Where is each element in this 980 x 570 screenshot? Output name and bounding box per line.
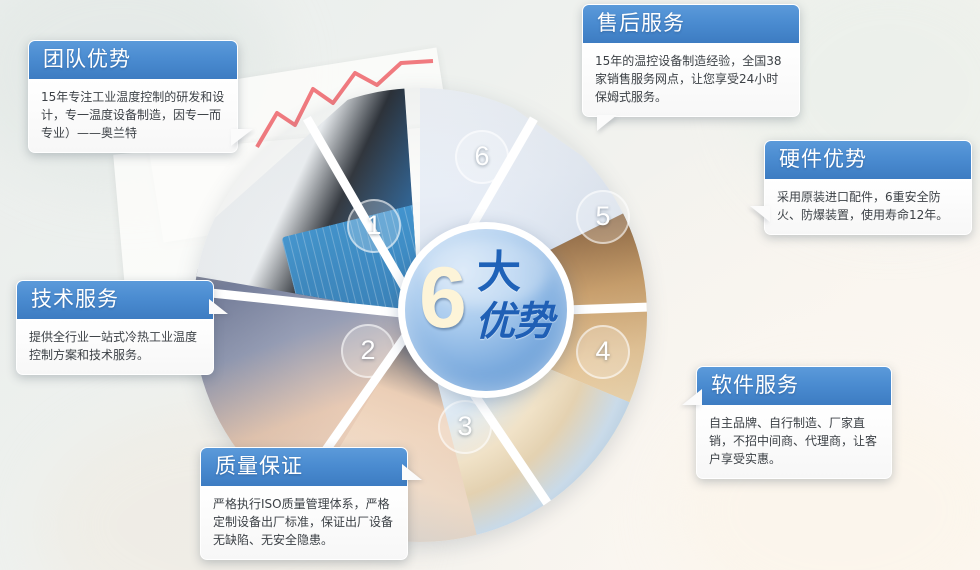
callout-title: 售后服务: [583, 5, 799, 43]
callout-tail: [231, 129, 253, 146]
callout-after-sales-service[interactable]: 售后服务 15年的温控设备制造经验，全国38家销售服务网点，让您享受24小时保姆…: [582, 4, 800, 117]
badge-number: 6: [419, 255, 467, 341]
wheel-marker-4[interactable]: 4: [576, 325, 630, 379]
callout-title: 硬件优势: [765, 141, 971, 179]
callout-software-service[interactable]: 软件服务 自主品牌、自行制造、厂家直销，不招中间商、代理商，让客户享受实惠。: [696, 366, 892, 479]
infographic-canvas: 1 2 3 4 5 6 6 大 优势 团队优势 15年专注工业温度控制的研发和设…: [0, 0, 980, 570]
callout-body: 15年专注工业温度控制的研发和设计，专一温度设备制造，因专一而专业）——奥兰特: [29, 79, 237, 152]
callout-body: 15年的温控设备制造经验，全国38家销售服务网点，让您享受24小时保姆式服务。: [583, 43, 799, 116]
callout-quality-assurance[interactable]: 质量保证 严格执行ISO质量管理体系，严格定制设备出厂标准，保证出厂设备无缺陷、…: [200, 447, 408, 560]
callout-tail: [597, 115, 617, 131]
wheel-marker-5[interactable]: 5: [576, 190, 630, 244]
badge-big-word: 大: [477, 251, 521, 295]
callout-tail: [402, 464, 422, 480]
callout-title: 技术服务: [17, 281, 213, 319]
callout-technical-service[interactable]: 技术服务 提供全行业一站式冷热工业温度控制方案和技术服务。: [16, 280, 214, 375]
badge-sub-word: 优势: [475, 301, 553, 343]
callout-title: 质量保证: [201, 448, 407, 486]
wheel-marker-6[interactable]: 6: [455, 130, 509, 184]
callout-tail: [750, 206, 770, 222]
callout-body: 自主品牌、自行制造、厂家直销，不招中间商、代理商，让客户享受实惠。: [697, 405, 891, 478]
callout-team-advantage[interactable]: 团队优势 15年专注工业温度控制的研发和设计，专一温度设备制造，因专一而专业）—…: [28, 40, 238, 153]
callout-tail: [209, 299, 228, 314]
callout-body: 严格执行ISO质量管理体系，严格定制设备出厂标准，保证出厂设备无缺陷、无安全隐患…: [201, 486, 407, 559]
wheel-marker-2[interactable]: 2: [341, 324, 395, 378]
callout-title: 团队优势: [29, 41, 237, 79]
callout-body: 提供全行业一站式冷热工业温度控制方案和技术服务。: [17, 319, 213, 374]
center-badge[interactable]: 6 大 优势: [398, 222, 574, 398]
callout-tail: [682, 389, 702, 405]
wheel-marker-1[interactable]: 1: [347, 199, 401, 253]
callout-body: 采用原装进口配件，6重安全防火、防爆装置，使用寿命12年。: [765, 179, 971, 234]
wheel-marker-3[interactable]: 3: [438, 400, 492, 454]
callout-hardware-advantage[interactable]: 硬件优势 采用原装进口配件，6重安全防火、防爆装置，使用寿命12年。: [764, 140, 972, 235]
callout-title: 软件服务: [697, 367, 891, 405]
center-badge-inner: 6 大 优势: [405, 229, 567, 391]
